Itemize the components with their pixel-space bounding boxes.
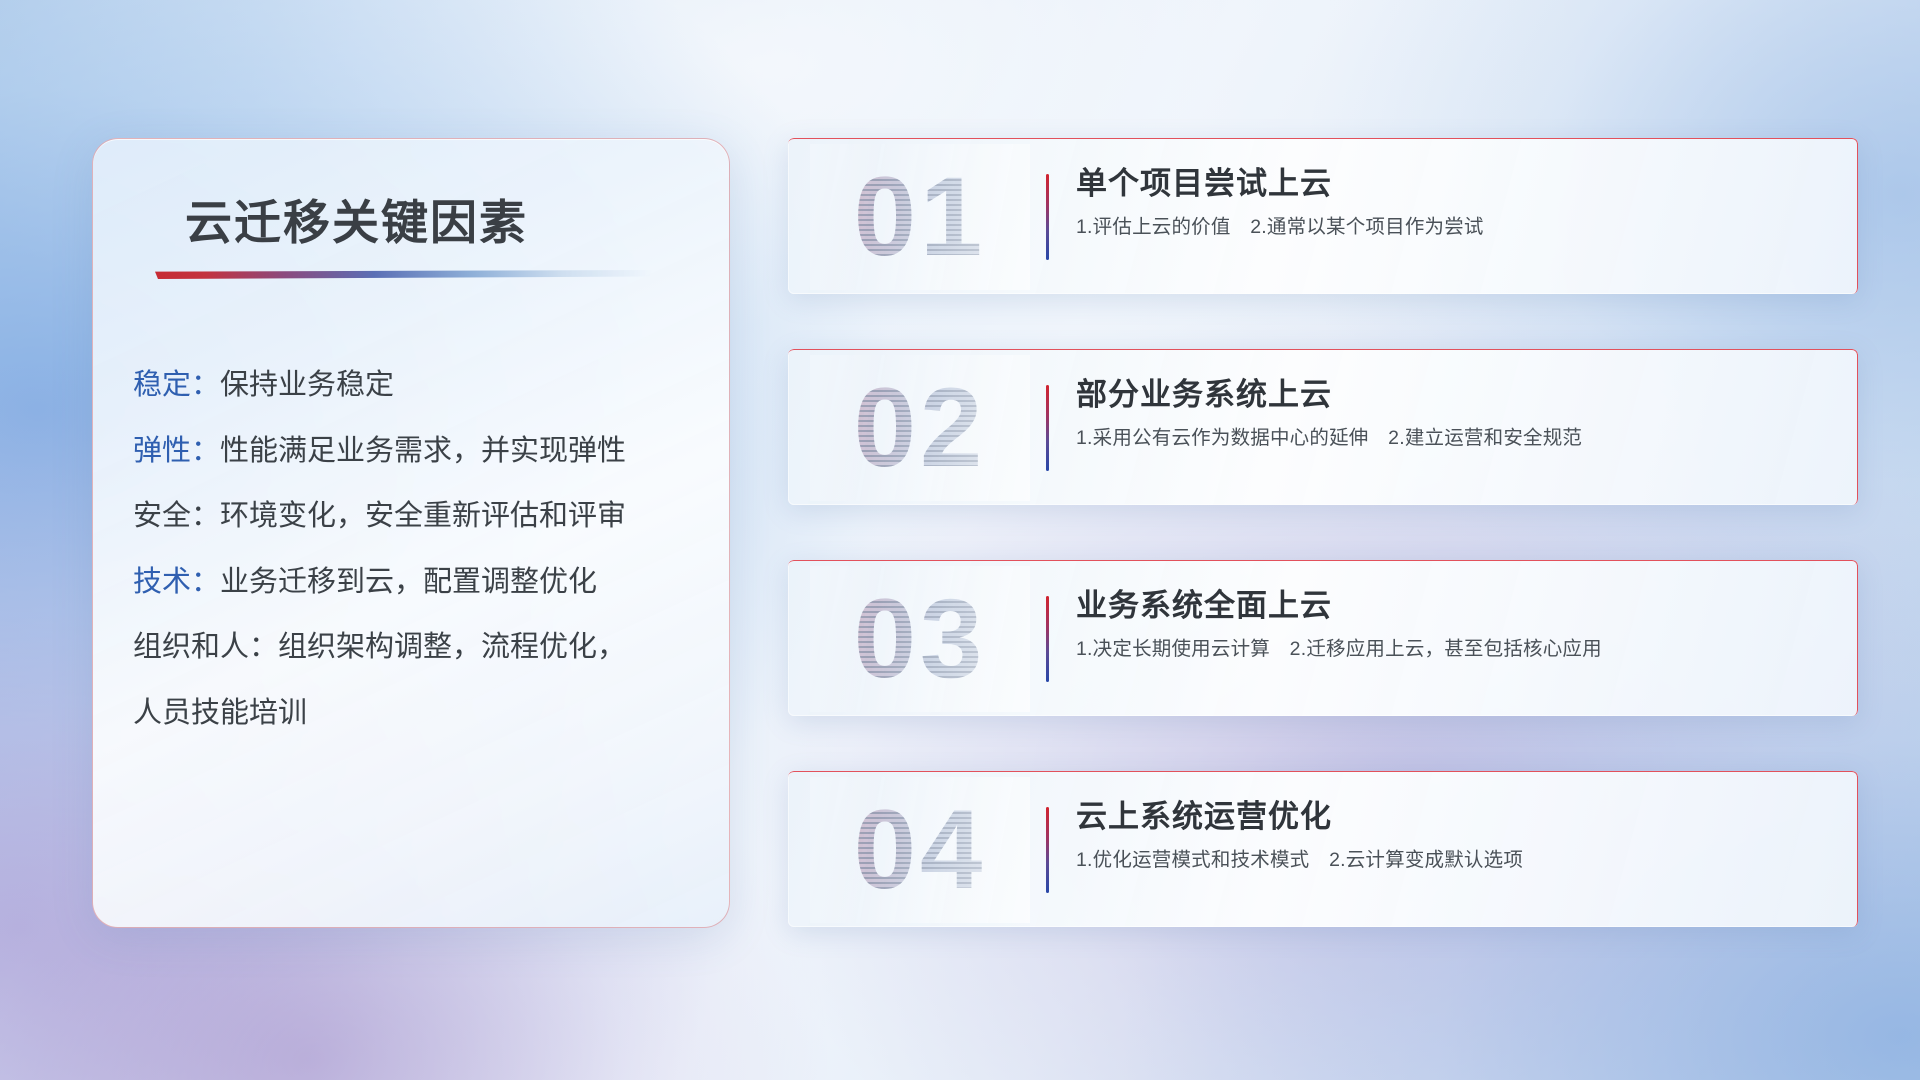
factor-value: 环境变化，安全重新评估和评审 <box>220 500 626 532</box>
stage-divider-bar <box>1046 596 1049 682</box>
stage-number: 02 <box>810 355 1030 501</box>
factor-key: 技术： <box>133 566 220 598</box>
slide-content: 云迁移关键因素 稳定：保持业务稳定 弹性：性能满足业务需求，并实现弹性 安全：环… <box>0 0 1920 1080</box>
factor-value: 保持业务稳定 <box>220 369 394 401</box>
key-factors-list: 稳定：保持业务稳定 弹性：性能满足业务需求，并实现弹性 安全：环境变化，安全重新… <box>133 371 707 728</box>
factor-key: 弹性： <box>133 435 220 467</box>
stage-card[interactable]: 01 单个项目尝试上云 1.评估上云的价值 2.通常以某个项目作为尝试 <box>788 138 1858 294</box>
stage-card[interactable]: 02 部分业务系统上云 1.采用公有云作为数据中心的延伸 2.建立运营和安全规范 <box>788 349 1858 505</box>
stage-number: 03 <box>810 566 1030 712</box>
stage-title: 云上系统运营优化 <box>1076 799 1834 836</box>
list-item: 稳定：保持业务稳定 <box>133 371 707 401</box>
stage-cards-list: 01 单个项目尝试上云 1.评估上云的价值 2.通常以某个项目作为尝试 02 部… <box>788 138 1858 927</box>
stage-title: 单个项目尝试上云 <box>1076 166 1834 203</box>
stage-description: 1.采用公有云作为数据中心的延伸 2.建立运营和安全规范 <box>1076 426 1834 451</box>
list-item: 人员技能培训 <box>133 699 707 729</box>
stage-description: 1.评估上云的价值 2.通常以某个项目作为尝试 <box>1076 215 1834 240</box>
factor-value: 人员技能培训 <box>133 697 307 729</box>
stage-card-body: 单个项目尝试上云 1.评估上云的价值 2.通常以某个项目作为尝试 <box>1076 166 1834 240</box>
factor-key: 稳定： <box>133 369 220 401</box>
list-item: 弹性：性能满足业务需求，并实现弹性 <box>133 437 707 467</box>
factor-value: 性能满足业务需求，并实现弹性 <box>220 435 626 467</box>
stage-number: 04 <box>810 777 1030 923</box>
key-factors-panel: 云迁移关键因素 稳定：保持业务稳定 弹性：性能满足业务需求，并实现弹性 安全：环… <box>92 138 730 928</box>
stage-card[interactable]: 03 业务系统全面上云 1.决定长期使用云计算 2.迁移应用上云，甚至包括核心应… <box>788 560 1858 716</box>
stage-number: 01 <box>810 144 1030 290</box>
stage-description: 1.决定长期使用云计算 2.迁移应用上云，甚至包括核心应用 <box>1076 637 1834 662</box>
title-underline-accent <box>155 270 653 279</box>
factor-key: 安全： <box>133 500 220 532</box>
list-item: 技术：业务迁移到云，配置调整优化 <box>133 568 707 598</box>
stage-card-body: 云上系统运营优化 1.优化运营模式和技术模式 2.云计算变成默认选项 <box>1076 799 1834 873</box>
stage-title: 业务系统全面上云 <box>1076 588 1834 625</box>
stage-card[interactable]: 04 云上系统运营优化 1.优化运营模式和技术模式 2.云计算变成默认选项 <box>788 771 1858 927</box>
stage-title: 部分业务系统上云 <box>1076 377 1834 414</box>
list-item: 安全：环境变化，安全重新评估和评审 <box>133 502 707 532</box>
stage-card-body: 业务系统全面上云 1.决定长期使用云计算 2.迁移应用上云，甚至包括核心应用 <box>1076 588 1834 662</box>
slide-root: 云迁移关键因素 稳定：保持业务稳定 弹性：性能满足业务需求，并实现弹性 安全：环… <box>0 0 1920 1080</box>
stage-description: 1.优化运营模式和技术模式 2.云计算变成默认选项 <box>1076 848 1834 873</box>
factor-value: 业务迁移到云，配置调整优化 <box>220 566 597 598</box>
factor-value: 组织架构调整，流程优化， <box>278 631 626 663</box>
stage-divider-bar <box>1046 385 1049 471</box>
stage-divider-bar <box>1046 174 1049 260</box>
factor-key: 组织和人： <box>133 631 278 663</box>
page-title: 云迁移关键因素 <box>185 184 528 253</box>
stage-divider-bar <box>1046 807 1049 893</box>
list-item: 组织和人：组织架构调整，流程优化， <box>133 633 707 663</box>
stage-card-body: 部分业务系统上云 1.采用公有云作为数据中心的延伸 2.建立运营和安全规范 <box>1076 377 1834 451</box>
